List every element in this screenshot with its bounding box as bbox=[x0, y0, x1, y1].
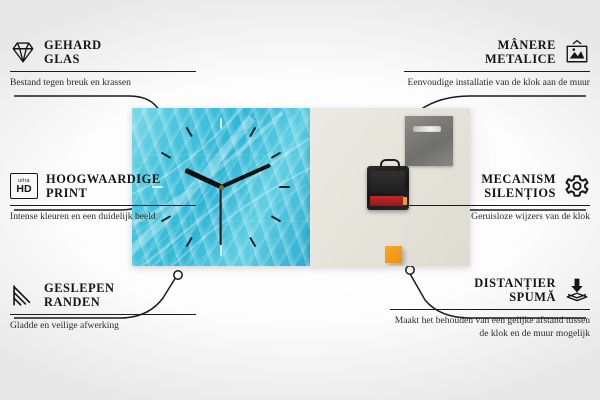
clock-tick bbox=[220, 245, 222, 256]
feature-header: DISTANȚIER SPUMĂ bbox=[390, 276, 590, 305]
feature-title: MÂNERE METALICE bbox=[404, 38, 556, 67]
feature-title: DISTANȚIER SPUMĂ bbox=[390, 276, 556, 305]
clock-minute-hand bbox=[220, 163, 271, 189]
feature-description: Gladde en veilige afwerking bbox=[10, 320, 196, 332]
battery bbox=[370, 196, 404, 206]
feature-description: Bestand tegen breuk en krassen bbox=[10, 77, 196, 89]
clock-tick bbox=[249, 127, 256, 138]
feature-divider bbox=[404, 205, 590, 206]
feature-divider bbox=[390, 309, 590, 310]
feature-mecanism-silentios: MECANISM SILENȚIOS Geruisloze wijzers va… bbox=[404, 172, 590, 224]
clock-tick bbox=[220, 118, 222, 129]
clock-tick bbox=[279, 186, 290, 188]
picture-hook-icon bbox=[564, 39, 590, 65]
feature-title-line: GEHARD bbox=[44, 38, 102, 52]
feature-description: Eenvoudige installatie van de klok aan d… bbox=[404, 77, 590, 89]
feature-manere-metalice: MÂNERE METALICE Eenvoudige installatie v… bbox=[404, 38, 590, 90]
hanger-loop-icon bbox=[380, 159, 400, 171]
ultra-hd-icon: ultra HD bbox=[10, 173, 38, 199]
movement-body bbox=[371, 171, 405, 193]
diamond-icon bbox=[10, 39, 36, 65]
feature-geslepen-randen: GESLEPEN RANDEN Gladde en veilige afwerk… bbox=[10, 281, 196, 333]
feature-title: GESLEPEN RANDEN bbox=[44, 281, 115, 310]
feature-title-line: PRINT bbox=[46, 186, 161, 200]
feature-title-line: METALICE bbox=[404, 52, 556, 66]
beveled-edge-icon bbox=[10, 282, 36, 308]
clock-tick bbox=[271, 215, 282, 222]
feature-title: HOOGWAARDIGE PRINT bbox=[46, 172, 161, 201]
feature-description: Geruisloze wijzers van de klok bbox=[404, 211, 590, 223]
metal-hanger-plate bbox=[405, 116, 453, 166]
infographic-canvas: GEHARD GLAS Bestand tegen breuk en krass… bbox=[0, 0, 600, 400]
clock-tick bbox=[249, 237, 256, 248]
feature-title-line: GLAS bbox=[44, 52, 102, 66]
feature-gehard-glas: GEHARD GLAS Bestand tegen breuk en krass… bbox=[10, 38, 196, 90]
spacer-arrow-icon bbox=[564, 277, 590, 303]
ultra-hd-icon-main-text: HD bbox=[16, 184, 31, 195]
clock-movement bbox=[367, 166, 409, 210]
feature-description: Maakt het behouden van een gelijke afsta… bbox=[390, 315, 590, 340]
feature-title-line: GESLEPEN bbox=[44, 281, 115, 295]
feature-title: MECANISM SILENȚIOS bbox=[404, 172, 556, 201]
feature-header: MÂNERE METALICE bbox=[404, 38, 590, 67]
feature-distantier-spuma: DISTANȚIER SPUMĂ Maakt het behouden van … bbox=[390, 276, 590, 340]
clock-tick bbox=[186, 237, 193, 248]
feature-divider bbox=[10, 71, 196, 72]
feature-title-line: HOOGWAARDIGE bbox=[46, 172, 161, 186]
feature-title-line: MECANISM bbox=[404, 172, 556, 186]
feature-description: Intense kleuren en een duidelijk beeld bbox=[10, 211, 196, 223]
feature-title-line: SILENȚIOS bbox=[404, 186, 556, 200]
feature-divider bbox=[10, 205, 196, 206]
clock-tick bbox=[161, 152, 172, 159]
feature-divider bbox=[10, 314, 196, 315]
gear-icon bbox=[564, 173, 590, 199]
clock-center-pin bbox=[219, 185, 224, 190]
clock-tick bbox=[186, 127, 193, 138]
feature-title-line: DISTANȚIER bbox=[390, 276, 556, 290]
feature-title-line: RANDEN bbox=[44, 295, 115, 309]
hanger-slot bbox=[413, 126, 441, 132]
feature-title-line: SPUMĂ bbox=[390, 290, 556, 304]
clock-second-hand bbox=[220, 187, 222, 245]
feature-hoogwaardige-print: ultra HD HOOGWAARDIGE PRINT Intense kleu… bbox=[10, 172, 196, 224]
feature-header: MECANISM SILENȚIOS bbox=[404, 172, 590, 201]
feature-title: GEHARD GLAS bbox=[44, 38, 102, 67]
foam-spacer bbox=[385, 246, 402, 263]
feature-header: GEHARD GLAS bbox=[10, 38, 196, 67]
clock-tick bbox=[271, 152, 282, 159]
feature-title-line: MÂNERE bbox=[404, 38, 556, 52]
feature-divider bbox=[404, 71, 590, 72]
feature-header: GESLEPEN RANDEN bbox=[10, 281, 196, 310]
feature-header: ultra HD HOOGWAARDIGE PRINT bbox=[10, 172, 196, 201]
